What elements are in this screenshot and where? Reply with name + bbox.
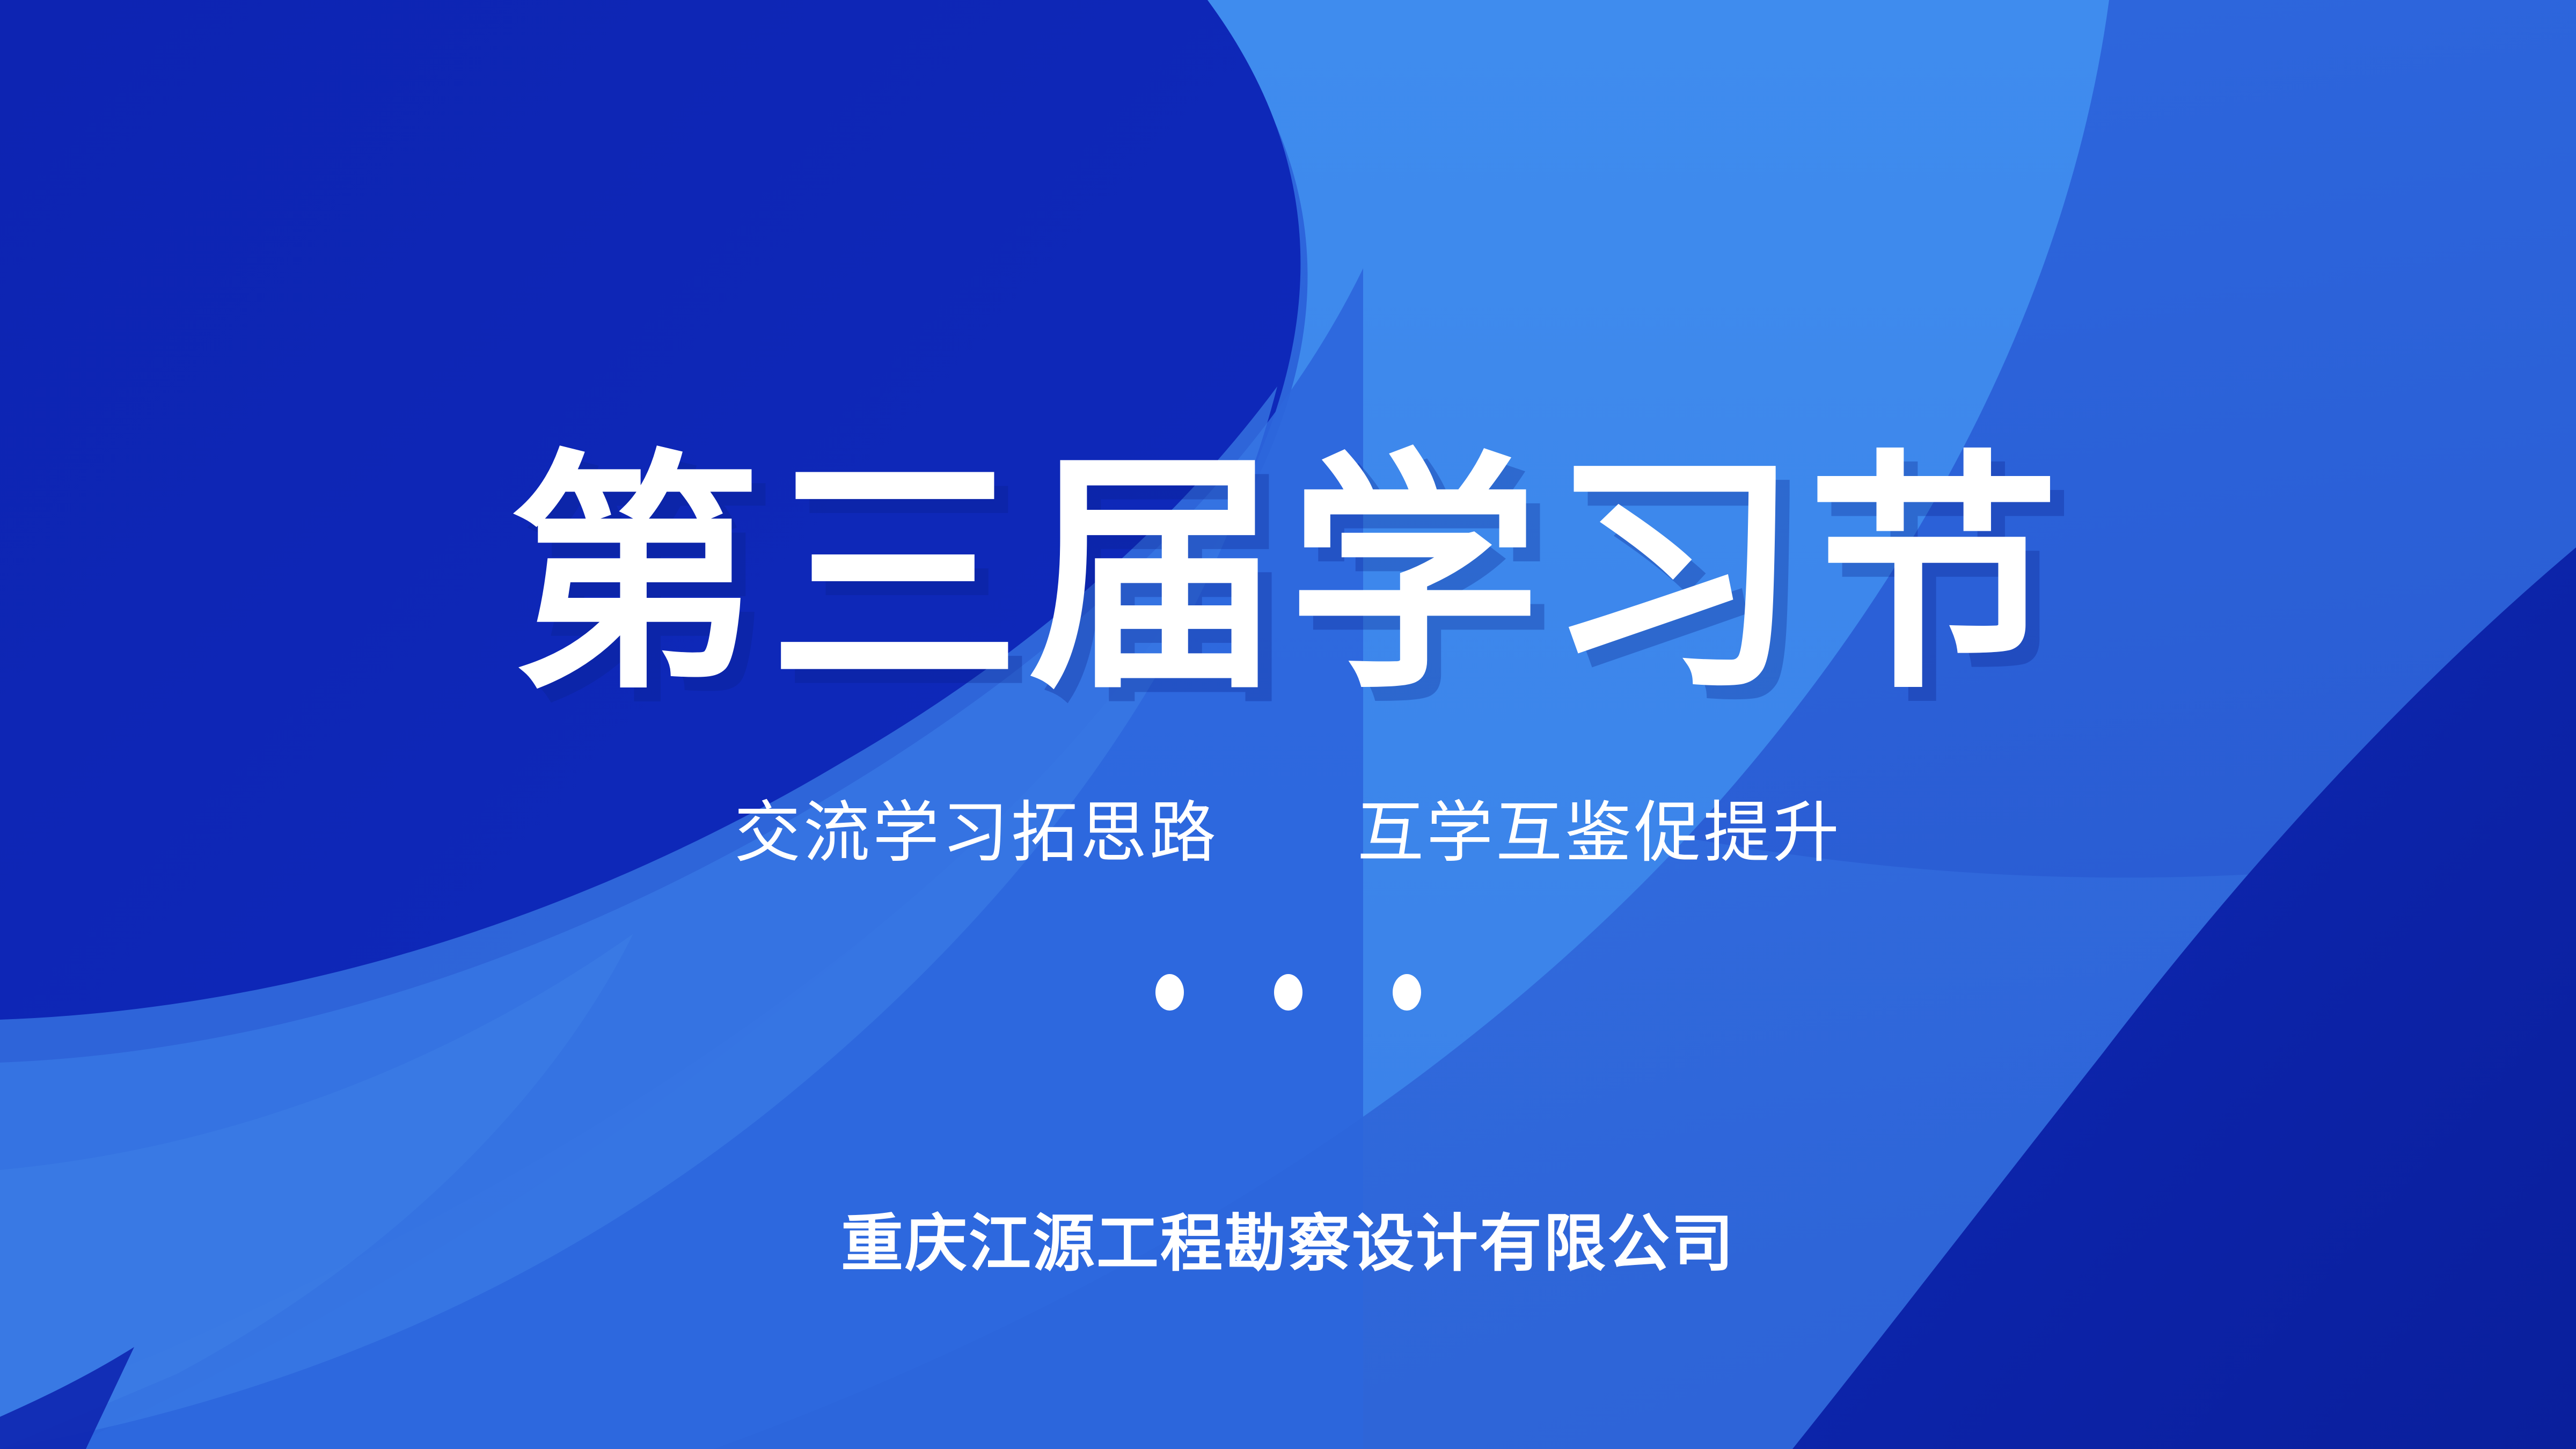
dot-icon-3: [1393, 974, 1421, 1011]
dot-icon-2: [1274, 974, 1302, 1011]
dot-separator: [0, 974, 2576, 1011]
poster-subtitle: 交流学习拓思路 互学互鉴促提升: [0, 793, 2576, 873]
dot-icon-1: [1155, 974, 1184, 1011]
poster-canvas: 第三届学习节 交流学习拓思路 互学互鉴促提升 重庆江源工程勘察设计有限公司: [0, 0, 2576, 1449]
company-name: 重庆江源工程勘察设计有限公司: [0, 1206, 2576, 1281]
page-title: 第三届学习节: [0, 445, 2576, 708]
poster-content: 第三届学习节 交流学习拓思路 互学互鉴促提升 重庆江源工程勘察设计有限公司: [0, 0, 2576, 1449]
